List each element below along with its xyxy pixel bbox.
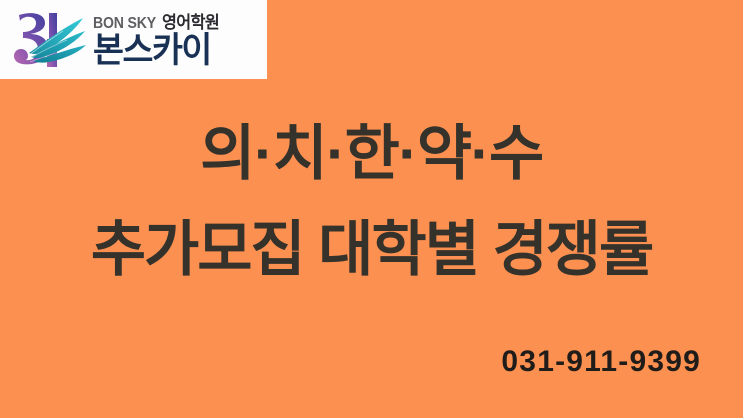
headline-line-2: 추가모집 대학별 경쟁률	[0, 220, 743, 280]
brand-logo-text: BON SKY 영어학원 본스카이	[93, 12, 222, 68]
brand-logo-plate[interactable]: BON SKY 영어학원 본스카이	[0, 0, 267, 79]
headline-block: 의·치·한·약·수 추가모집 대학별 경쟁률	[0, 124, 743, 280]
poster-canvas: BON SKY 영어학원 본스카이 의·치·한·약·수 추가모집 대학별 경쟁률…	[0, 0, 743, 418]
bonsky-winged-b-logo-icon	[9, 9, 87, 71]
brand-tagline-row: BON SKY 영어학원	[93, 14, 222, 32]
brand-korean-name: 본스카이	[93, 33, 217, 68]
brand-english-name: BON SKY	[93, 16, 156, 32]
brand-korean-subtitle: 영어학원	[162, 14, 219, 31]
contact-phone-number[interactable]: 031-911-9399	[501, 345, 701, 379]
headline-line-1: 의·치·한·약·수	[0, 124, 743, 184]
